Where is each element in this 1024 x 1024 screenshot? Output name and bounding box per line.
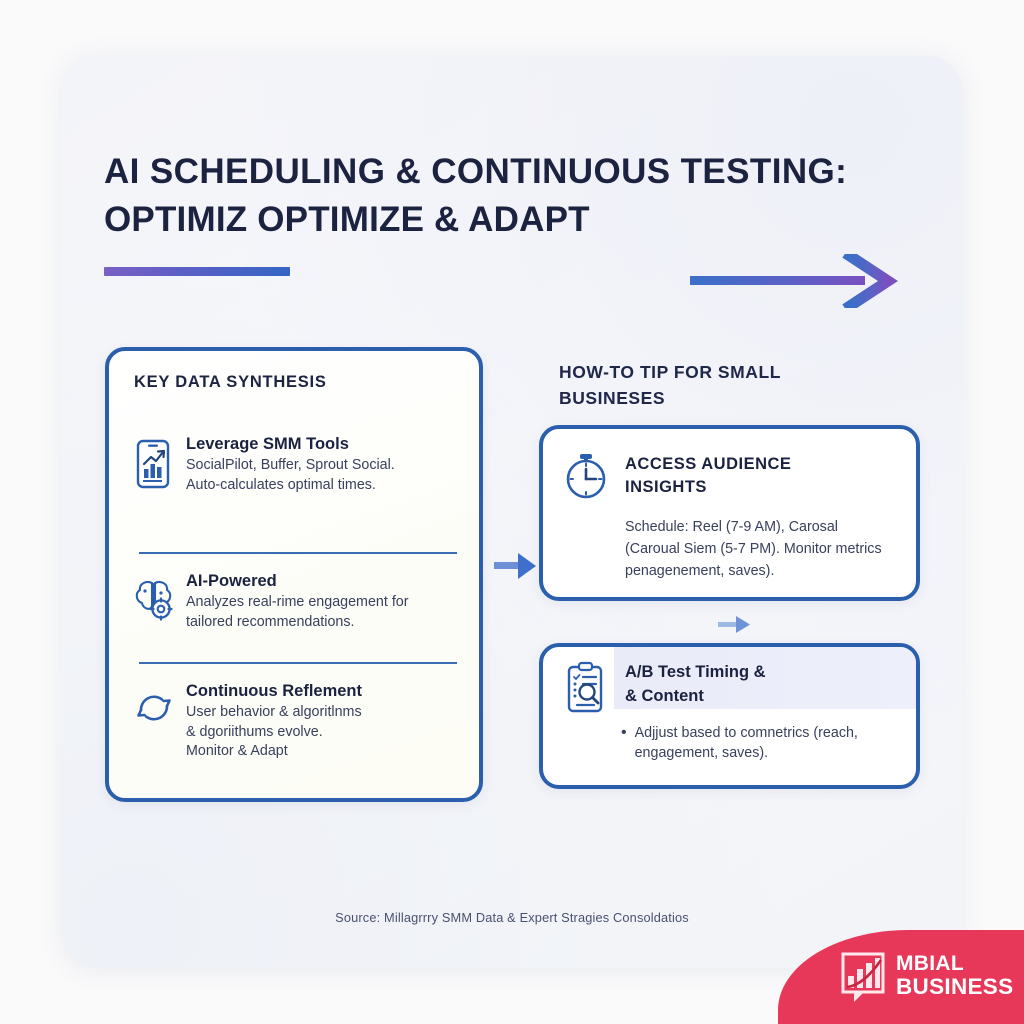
- page-title-line-2: OPTIMIZ OPTIMIZE & ADAPT: [104, 196, 934, 244]
- left-card-title: KEY DATA SYNTHESIS: [134, 373, 327, 392]
- list-item: Leverage SMM Tools SocialPilot, Buffer, …: [131, 434, 467, 495]
- right-column-heading: HOW-TO TIP FOR SMALL BUSINESES: [559, 359, 859, 411]
- body-line: Adjjust based to comnetrics (reach,: [635, 723, 858, 743]
- body-line: Schedule: Reel (7-9 AM), Carosal: [625, 516, 915, 538]
- access-audience-insights-card: ACCESS AUDIENCE INSIGHTS Schedule: Reel …: [539, 425, 920, 601]
- secondary-connector-arrow-icon: [717, 612, 761, 638]
- mobile-chart-icon: [131, 438, 177, 495]
- refresh-cycle-icon: [131, 685, 177, 736]
- title-accent-bar: [104, 267, 290, 276]
- title-line: A/B Test Timing &: [625, 660, 905, 684]
- infographic-panel: AI SCHEDULING & CONTINUOUS TESTING: OPTI…: [62, 56, 962, 968]
- brain-gear-icon: [131, 575, 177, 626]
- list-item: AI-Powered Analyzes real-rime engagement…: [131, 571, 467, 632]
- divider: [139, 662, 457, 664]
- heading-line: HOW-TO TIP FOR SMALL: [559, 359, 859, 385]
- title-line: ACCESS AUDIENCE: [625, 453, 895, 476]
- list-item-body: Analyzes real-rime engagement for tailor…: [186, 593, 409, 632]
- clipboard-search-icon: [561, 661, 613, 722]
- logo-badge: MBIAL BUSINESS: [778, 930, 1024, 1024]
- stopwatch-icon: [561, 449, 613, 508]
- header-arrow-icon: [690, 254, 910, 308]
- bullet-text: Adjjust based to comnetrics (reach, enga…: [635, 723, 858, 763]
- bullet-item: • Adjjust based to comnetrics (reach, en…: [621, 723, 913, 763]
- heading-line: BUSINESES: [559, 385, 859, 411]
- list-item-body: SocialPilot, Buffer, Sprout Social. Auto…: [186, 456, 395, 495]
- list-item-heading: Leverage SMM Tools: [186, 434, 395, 455]
- source-note: Source: Millagrrry SMM Data & Expert Str…: [62, 910, 962, 925]
- body-line: penagenement, saves).: [625, 560, 915, 582]
- body-line: tailored recommendations.: [186, 613, 409, 633]
- title-line: INSIGHTS: [625, 476, 895, 499]
- body-line: (Caroual Siem (5-7 PM). Monitor metrics: [625, 538, 915, 560]
- body-line: Auto-calculates optimal times.: [186, 476, 395, 496]
- body-line: SocialPilot, Buffer, Sprout Social.: [186, 456, 395, 476]
- chart-speech-bubble-icon: [840, 952, 888, 1004]
- body-line: User behavior & algoritlnms: [186, 703, 362, 723]
- logo-text: MBIAL BUSINESS: [896, 952, 1013, 998]
- right-card-title: A/B Test Timing & & Content: [625, 660, 905, 708]
- body-line: engagement, saves).: [635, 743, 858, 763]
- list-item-heading: Continuous Reflement: [186, 681, 362, 702]
- list-item-body: User behavior & algoritlnms & dgoriithum…: [186, 703, 362, 762]
- list-item-text: AI-Powered Analyzes real-rime engagement…: [177, 571, 409, 632]
- list-item: Continuous Reflement User behavior & alg…: [131, 681, 467, 762]
- list-item-text: Continuous Reflement User behavior & alg…: [177, 681, 362, 762]
- logo-line-2: BUSINESS: [896, 975, 1013, 998]
- right-card-body: Schedule: Reel (7-9 AM), Carosal (Caroua…: [625, 516, 915, 582]
- body-line: & dgoriithums evolve.: [186, 723, 362, 743]
- bullet-marker: •: [621, 723, 635, 763]
- key-data-synthesis-card: KEY DATA SYNTHESIS Leverage SMM Tools So: [105, 347, 483, 802]
- right-card-title: ACCESS AUDIENCE INSIGHTS: [625, 453, 895, 499]
- ab-test-timing-card: A/B Test Timing & & Content • Adjjust ba…: [539, 643, 920, 789]
- list-item-text: Leverage SMM Tools SocialPilot, Buffer, …: [177, 434, 395, 495]
- logo-line-1: MBIAL: [896, 952, 1013, 975]
- body-line: Monitor & Adapt: [186, 742, 362, 762]
- title-line: & Content: [625, 684, 905, 708]
- body-line: Analyzes real-rime engagement for: [186, 593, 409, 613]
- header: AI SCHEDULING & CONTINUOUS TESTING: OPTI…: [104, 148, 934, 244]
- page-title-line-1: AI SCHEDULING & CONTINUOUS TESTING:: [104, 148, 934, 196]
- list-item-heading: AI-Powered: [186, 571, 409, 592]
- divider: [139, 552, 457, 554]
